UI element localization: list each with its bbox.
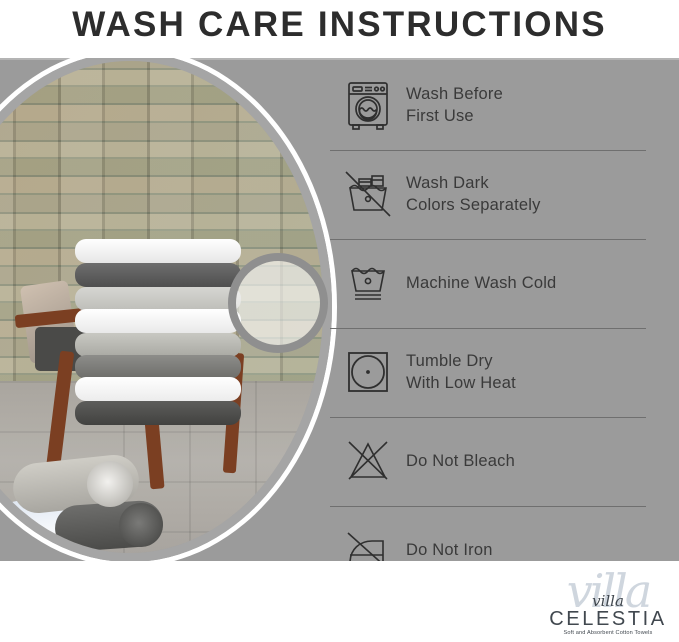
do-not-bleach-icon [330, 437, 406, 485]
instruction-row-wash-dark-colors-separately: Wash Dark Colors Separately [330, 151, 646, 237]
machine-wash-cold-icon [330, 261, 406, 305]
instruction-row-tumble-dry-with-low-heat: Tumble Dry With Low Heat [330, 329, 646, 415]
folded-towel [75, 239, 241, 263]
folded-towel [75, 287, 241, 311]
folded-towel [75, 263, 241, 287]
rolled-towel-end [119, 503, 163, 547]
instruction-label: Tumble Dry With Low Heat [406, 350, 516, 395]
folded-towel [75, 333, 241, 357]
instruction-row-do-not-iron: Do Not Iron [330, 507, 646, 561]
do-not-iron-icon [330, 527, 406, 561]
instruction-label: Wash Dark Colors Separately [406, 172, 541, 217]
instruction-label: Do Not Bleach [406, 450, 515, 472]
tumble-dry-low-icon [330, 349, 406, 395]
page-title: WASH CARE INSTRUCTIONS [0, 0, 679, 52]
rolled-towel-end [87, 461, 133, 507]
instruction-label: Machine Wash Cold [406, 272, 556, 294]
brand-logo: villa villa CELESTIA Soft and Absorbent … [537, 562, 679, 642]
folded-towel [75, 377, 241, 401]
no-mixed-wash-icon [330, 170, 406, 218]
folded-towel [75, 309, 241, 333]
folded-towel [75, 355, 241, 379]
instruction-row-do-not-bleach: Do Not Bleach [330, 418, 646, 504]
washing-machine-icon [330, 80, 406, 130]
instruction-row-wash-before-first-use: Wash Before First Use [330, 62, 646, 148]
wash-care-panel: Wash Before First Use Wash Dark Colors S… [0, 58, 679, 561]
instruction-row-machine-wash-cold: Machine Wash Cold [330, 240, 646, 326]
magnifier-overlay [228, 253, 328, 353]
logo-tagline: Soft and Absorbent Cotton Towels [537, 630, 679, 636]
logo-celestia-text: CELESTIA [537, 608, 679, 631]
instruction-label: Wash Before First Use [406, 83, 503, 128]
folded-towel [75, 401, 241, 425]
instruction-label: Do Not Iron [406, 539, 493, 561]
